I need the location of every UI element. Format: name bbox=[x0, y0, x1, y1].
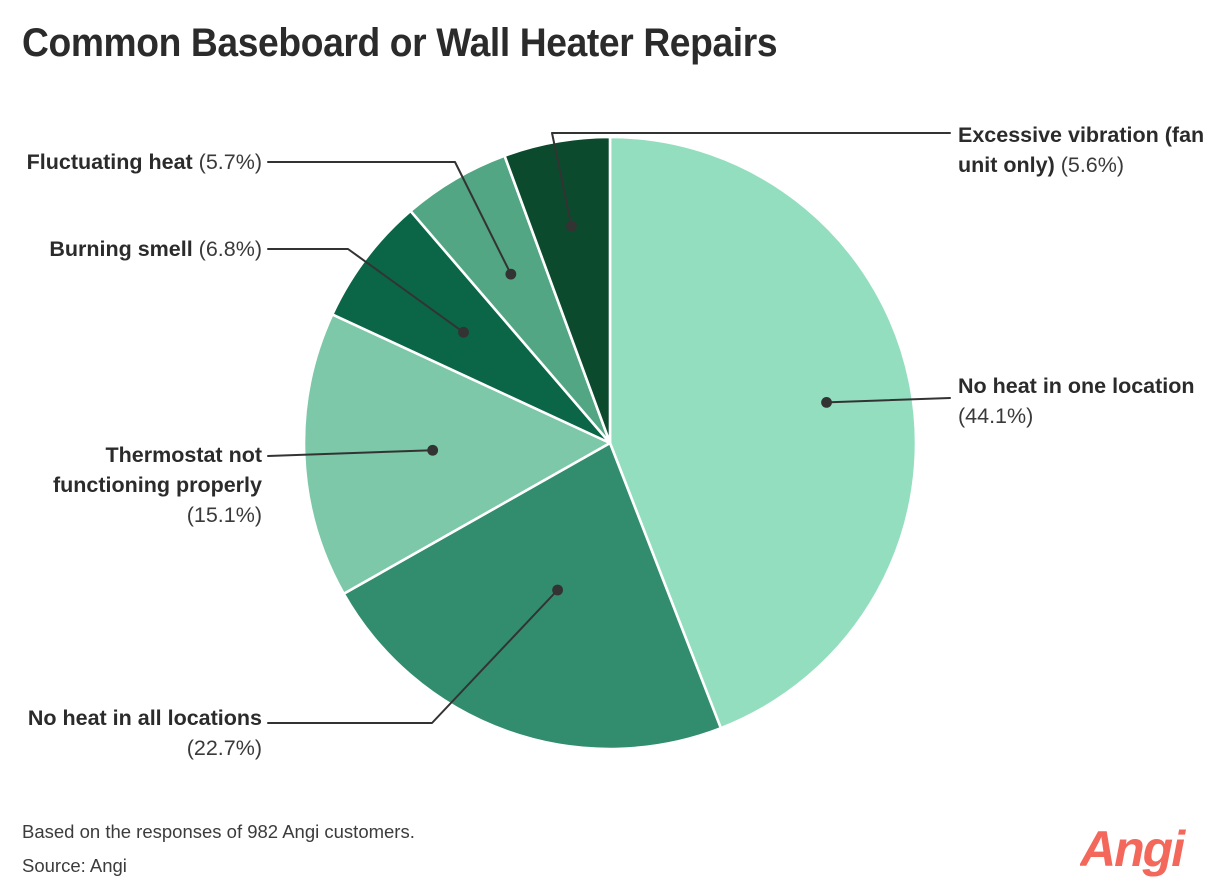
footer-basis-line: Based on the responses of 982 Angi custo… bbox=[22, 815, 415, 849]
leader-dot bbox=[505, 269, 516, 280]
leader-dot bbox=[458, 327, 469, 338]
callout-label: Thermostat not functioning properly bbox=[53, 443, 262, 497]
angi-logo-text: Angi bbox=[1080, 822, 1186, 877]
callout-excessive-vibration: Excessive vibration (fan unit only) (5.6… bbox=[958, 120, 1210, 180]
callout-label: Burning smell bbox=[49, 237, 192, 261]
callout-burning-smell: Burning smell (6.8%) bbox=[20, 234, 262, 264]
leader-dot bbox=[427, 445, 438, 456]
callout-percent: (6.8%) bbox=[199, 237, 262, 261]
callout-thermostat-not-functioning-properly: Thermostat not functioning properly (15.… bbox=[8, 440, 262, 530]
callout-percent: (15.1%) bbox=[187, 503, 262, 527]
footer-notes: Based on the responses of 982 Angi custo… bbox=[22, 815, 415, 883]
callout-percent: (5.6%) bbox=[1061, 153, 1124, 177]
callout-label: No heat in all locations bbox=[28, 706, 262, 730]
callout-label: No heat in one location bbox=[958, 374, 1195, 398]
angi-logo: Angi bbox=[1080, 822, 1202, 878]
callout-label: Fluctuating heat bbox=[27, 150, 193, 174]
callout-percent: (22.7%) bbox=[187, 736, 262, 760]
pie-slice-group bbox=[304, 137, 916, 749]
footer-source-line: Source: Angi bbox=[22, 849, 415, 883]
leader-dot bbox=[566, 221, 577, 232]
callout-percent: (44.1%) bbox=[958, 404, 1033, 428]
angi-logo-wordmark: Angi bbox=[1080, 822, 1202, 878]
leader-dot bbox=[821, 397, 832, 408]
callout-percent: (5.7%) bbox=[199, 150, 262, 174]
leader-dot bbox=[552, 585, 563, 596]
callout-no-heat-in-one-location: No heat in one location (44.1%) bbox=[958, 371, 1210, 431]
callout-fluctuating-heat: Fluctuating heat (5.7%) bbox=[20, 147, 262, 177]
callout-no-heat-in-all-locations: No heat in all locations (22.7%) bbox=[10, 703, 262, 763]
